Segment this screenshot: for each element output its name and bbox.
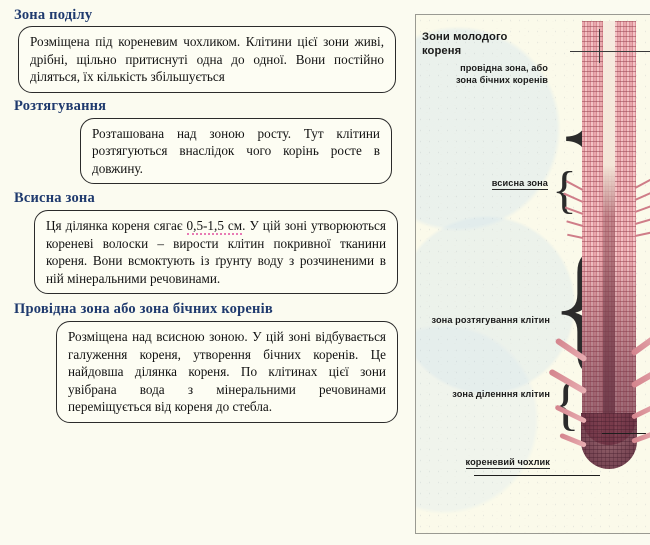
zone-textbox-division: Розміщена під кореневим чохликом. Клітин… — [18, 26, 396, 93]
root-hair — [635, 178, 650, 189]
zone-block-conduct: Провідна зона або зона бічних коренів Ро… — [0, 300, 414, 423]
root-hair — [635, 218, 650, 224]
zone-text-absorb: Ця ділянка кореня сягає 0,5-1,5 см. У ці… — [46, 217, 386, 287]
absorb-text-before: Ця ділянка кореня сягає — [46, 218, 187, 233]
zone-text-stretch: Розташована над зоною росту. Тут клітини… — [92, 125, 380, 178]
zone-heading-stretch: Розтягування — [0, 97, 414, 115]
transverse-section-line-vertical — [599, 29, 600, 63]
diagram-label-root-cap-text: кореневий чохлик — [466, 457, 550, 469]
zone-descriptions-column: Зона поділу Розміщена під кореневим чохл… — [0, 0, 414, 545]
root-zones-diagram: Зони молодого кореня провідна зона, або … — [415, 14, 650, 534]
root-hair — [635, 190, 650, 200]
zone-block-absorb: Всисна зона Ця ділянка кореня сягає 0,5-… — [0, 189, 414, 294]
zone-text-conduct: Розміщена над всисною зоною. У цій зоні … — [68, 328, 386, 416]
diagram-label-absorbing-zone-text: всисна зона — [492, 178, 548, 190]
root-cap-arrow — [602, 433, 646, 434]
zone-block-division: Зона поділу Розміщена під кореневим чохл… — [0, 6, 414, 93]
root-hair — [635, 204, 650, 212]
diagram-label-division-zone: зона діленння клітин — [424, 389, 550, 401]
root-cap-structure — [581, 413, 637, 469]
zone-block-stretch: Розтягування Розташована над зоною росту… — [0, 97, 414, 185]
zone-heading-division: Зона поділу — [0, 6, 414, 24]
diagram-label-absorbing-zone: всисна зона — [430, 178, 548, 190]
root-hair — [635, 232, 650, 237]
transverse-section-line — [570, 51, 650, 52]
diagram-title: Зони молодого кореня — [422, 31, 542, 58]
root-hair — [566, 180, 584, 190]
diagram-label-elongation-zone: зона розтягування клітин — [416, 315, 550, 327]
zone-text-division: Розміщена під кореневим чохликом. Клітин… — [30, 33, 384, 86]
diagram-label-root-cap: кореневий чохлик — [428, 457, 550, 469]
zone-textbox-conduct: Розміщена над всисною зоною. У цій зоні … — [56, 321, 398, 423]
absorb-measure-value: 0,5-1,5 см — [187, 218, 243, 235]
root-hair — [566, 220, 583, 226]
zone-heading-absorb: Всисна зона — [0, 189, 414, 207]
zone-textbox-absorb: Ця ділянка кореня сягає 0,5-1,5 см. У ці… — [34, 210, 398, 294]
root-hair — [563, 193, 583, 203]
zone-heading-conduct: Провідна зона або зона бічних коренів — [0, 300, 414, 318]
root-cap-texture — [581, 413, 637, 469]
root-longitudinal-section-illustration — [566, 21, 650, 521]
slide-canvas: Зона поділу Розміщена під кореневим чохл… — [0, 0, 650, 545]
root-cylinder — [582, 21, 636, 445]
root-hair — [565, 207, 583, 215]
diagram-label-conducting-zone: провідна зона, або зона бічних коренів — [426, 63, 548, 86]
root-hair — [567, 234, 583, 239]
zone-textbox-stretch: Розташована над зоною росту. Тут клітини… — [80, 118, 392, 185]
